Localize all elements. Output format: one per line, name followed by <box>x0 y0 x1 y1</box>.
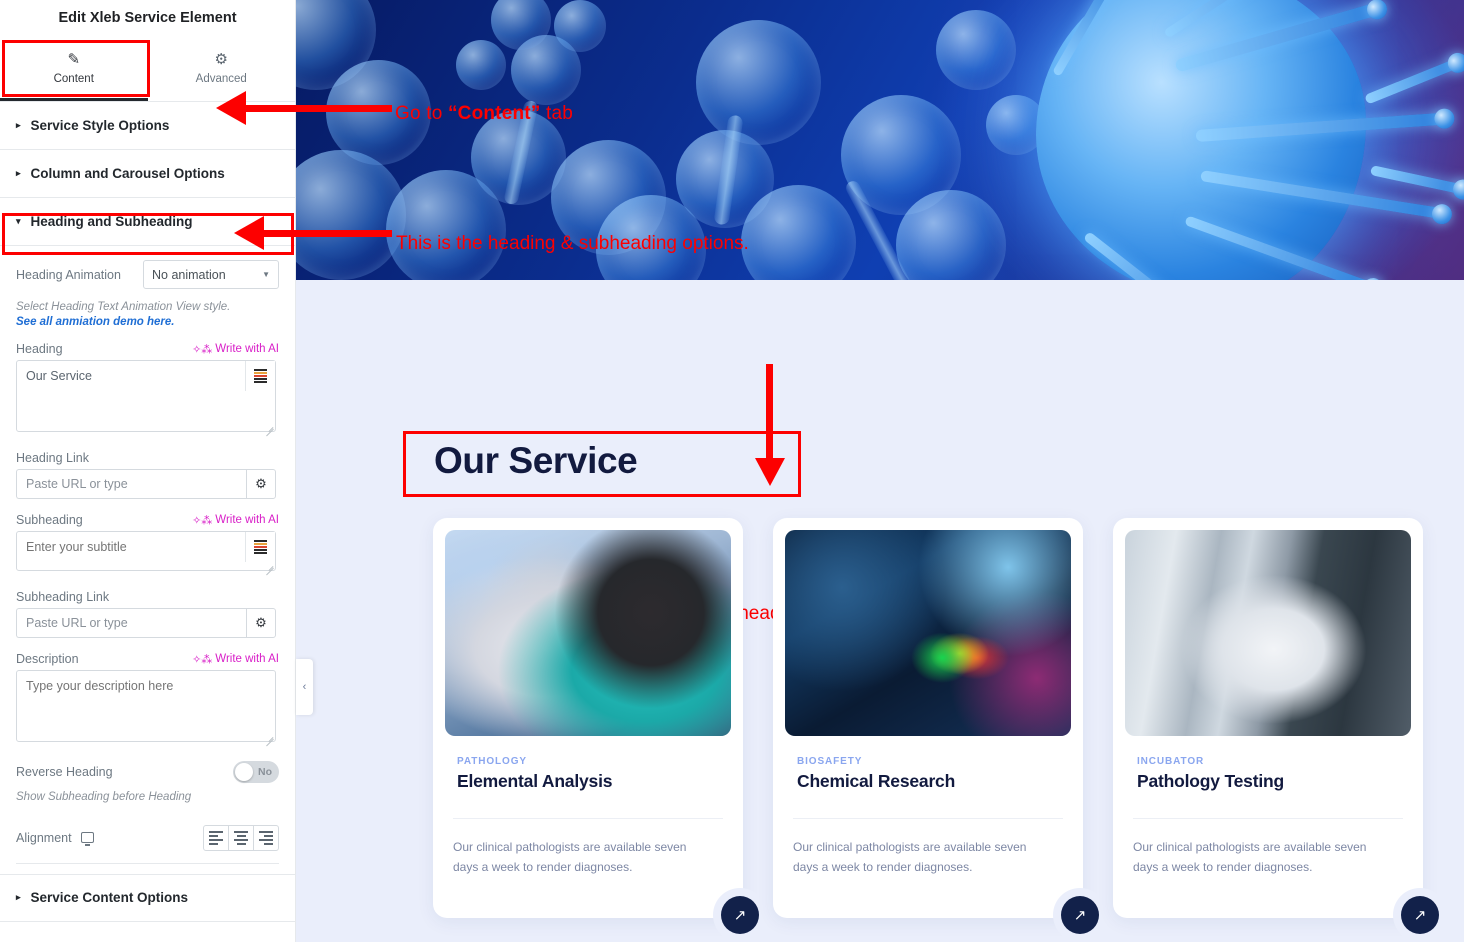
accordion-label: Heading and Subheading <box>31 214 193 229</box>
description-input[interactable] <box>16 670 276 742</box>
editor-panel: Edit Xleb Service Element ✎ Content ⚙ Ad… <box>0 0 296 942</box>
desktop-icon[interactable] <box>81 832 94 843</box>
accordion-label: Column and Carousel Options <box>31 166 225 181</box>
tab-advanced[interactable]: ⚙ Advanced <box>148 36 296 101</box>
align-center-icon <box>234 831 248 845</box>
link-options-gear-icon[interactable]: ⚙ <box>246 469 276 499</box>
description-label: Description <box>16 652 79 666</box>
subheading-link-input[interactable] <box>16 608 246 638</box>
animation-demo-link[interactable]: See all anmiation demo here. <box>16 316 279 328</box>
accordion-label: Service Style Options <box>31 118 170 133</box>
divider <box>453 818 723 819</box>
site-heading: Our Service <box>434 440 637 482</box>
heading-write-with-ai-button[interactable]: ✧⁂ Write with AI <box>192 343 279 356</box>
divider <box>16 863 279 864</box>
heading-animation-hint: Select Heading Text Animation View style… <box>16 299 279 316</box>
arrow-up-right-icon[interactable]: ↗ <box>1061 896 1099 934</box>
align-right-icon <box>259 831 273 845</box>
accordion-column-and-carousel-options[interactable]: ▸ Column and Carousel Options <box>0 150 295 198</box>
card-title: Pathology Testing <box>1137 771 1411 792</box>
database-stack-icon <box>254 369 267 383</box>
sparkle-icon: ✧⁂ <box>192 343 212 356</box>
accordion-heading-and-subheading[interactable]: ▾ Heading and Subheading <box>0 198 295 246</box>
annotation-content-tab: Go to “Content” tab <box>395 103 573 125</box>
subheading-field-wrap <box>16 531 276 576</box>
card-image <box>445 530 731 736</box>
chevron-right-icon: ▸ <box>16 169 21 178</box>
subheading-label: Subheading <box>16 513 83 527</box>
gear-icon: ⚙ <box>215 52 228 67</box>
card-title: Chemical Research <box>797 771 1071 792</box>
subheading-link-field-wrap: ⚙ <box>16 608 276 638</box>
heading-field-wrap <box>16 360 276 437</box>
ai-label: Write with AI <box>215 343 279 355</box>
card-category: BIOSAFETY <box>797 756 1071 767</box>
alignment-label: Alignment <box>16 831 72 845</box>
card-title: Elemental Analysis <box>457 771 731 792</box>
heading-label: Heading <box>16 342 63 356</box>
reverse-heading-label: Reverse Heading <box>16 765 113 779</box>
align-left-icon <box>209 831 223 845</box>
toggle-state-label: No <box>258 766 272 778</box>
align-center-button[interactable] <box>228 825 254 851</box>
tab-content[interactable]: ✎ Content <box>0 36 148 101</box>
service-card[interactable]: PATHOLOGY Elemental Analysis Our clinica… <box>433 518 743 918</box>
description-write-with-ai-button[interactable]: ✧⁂ Write with AI <box>192 653 279 666</box>
card-description: Our clinical pathologists are available … <box>793 838 1033 878</box>
heading-input[interactable] <box>16 360 276 432</box>
divider <box>1133 818 1403 819</box>
site-heading-wrap: Our Service <box>434 440 637 482</box>
dynamic-tags-icon[interactable] <box>245 532 275 562</box>
heading-link-field-wrap: ⚙ <box>16 469 276 499</box>
accordion-label: Service Content Options <box>31 890 189 905</box>
card-category: INCUBATOR <box>1137 756 1411 767</box>
card-image <box>785 530 1071 736</box>
chevron-down-icon: ▾ <box>16 217 21 226</box>
reverse-heading-hint: Show Subheading before Heading <box>16 789 279 806</box>
chevron-down-icon: ▼ <box>262 270 270 279</box>
ai-label: Write with AI <box>215 653 279 665</box>
page-title: Edit Xleb Service Element <box>0 0 295 36</box>
arrow-up-right-icon[interactable]: ↗ <box>721 896 759 934</box>
accordion-service-style-options[interactable]: ▸ Service Style Options <box>0 102 295 150</box>
sparkle-icon: ✧⁂ <box>192 653 212 666</box>
divider <box>793 818 1063 819</box>
annotation-heading-options: This is the heading & subheading options… <box>396 233 749 255</box>
service-card[interactable]: INCUBATOR Pathology Testing Our clinical… <box>1113 518 1423 918</box>
tab-content-label: Content <box>54 73 94 85</box>
card-description: Our clinical pathologists are available … <box>1133 838 1373 878</box>
tab-advanced-label: Advanced <box>196 73 247 85</box>
heading-link-input[interactable] <box>16 469 246 499</box>
service-cards: PATHOLOGY Elemental Analysis Our clinica… <box>433 518 1423 918</box>
chevron-right-icon: ▸ <box>16 893 21 902</box>
dynamic-tags-icon[interactable] <box>245 361 275 391</box>
panel-collapse-handle[interactable]: ‹ <box>296 659 313 715</box>
card-category: PATHOLOGY <box>457 756 731 767</box>
reverse-heading-toggle[interactable]: No <box>233 761 279 783</box>
card-image <box>1125 530 1411 736</box>
service-card[interactable]: BIOSAFETY Chemical Research Our clinical… <box>773 518 1083 918</box>
accordion-service-content-options[interactable]: ▸ Service Content Options <box>0 874 295 922</box>
description-field-wrap <box>16 670 276 747</box>
subheading-write-with-ai-button[interactable]: ✧⁂ Write with AI <box>192 514 279 527</box>
align-right-button[interactable] <box>253 825 279 851</box>
alignment-button-group <box>203 825 279 851</box>
heading-subheading-section: Heading Animation No animation ▼ Select … <box>0 246 295 874</box>
heading-animation-value: No animation <box>152 268 226 282</box>
sparkle-icon: ✧⁂ <box>192 514 212 527</box>
subheading-link-label: Subheading Link <box>16 590 109 604</box>
hero-banner-image: Go to “Content” tab This is the heading … <box>296 0 1464 280</box>
toggle-knob <box>235 763 253 781</box>
heading-animation-select[interactable]: No animation ▼ <box>143 260 279 289</box>
panel-tabs: ✎ Content ⚙ Advanced <box>0 36 295 102</box>
database-stack-icon <box>254 540 267 554</box>
subheading-input[interactable] <box>16 531 276 571</box>
chevron-right-icon: ▸ <box>16 121 21 130</box>
card-description: Our clinical pathologists are available … <box>453 838 693 878</box>
heading-link-label: Heading Link <box>16 451 89 465</box>
align-left-button[interactable] <box>203 825 229 851</box>
preview-canvas: Go to “Content” tab This is the heading … <box>296 0 1464 942</box>
arrow-up-right-icon[interactable]: ↗ <box>1401 896 1439 934</box>
heading-animation-label: Heading Animation <box>16 268 121 282</box>
link-options-gear-icon[interactable]: ⚙ <box>246 608 276 638</box>
ai-label: Write with AI <box>215 514 279 526</box>
pencil-icon: ✎ <box>67 52 80 67</box>
